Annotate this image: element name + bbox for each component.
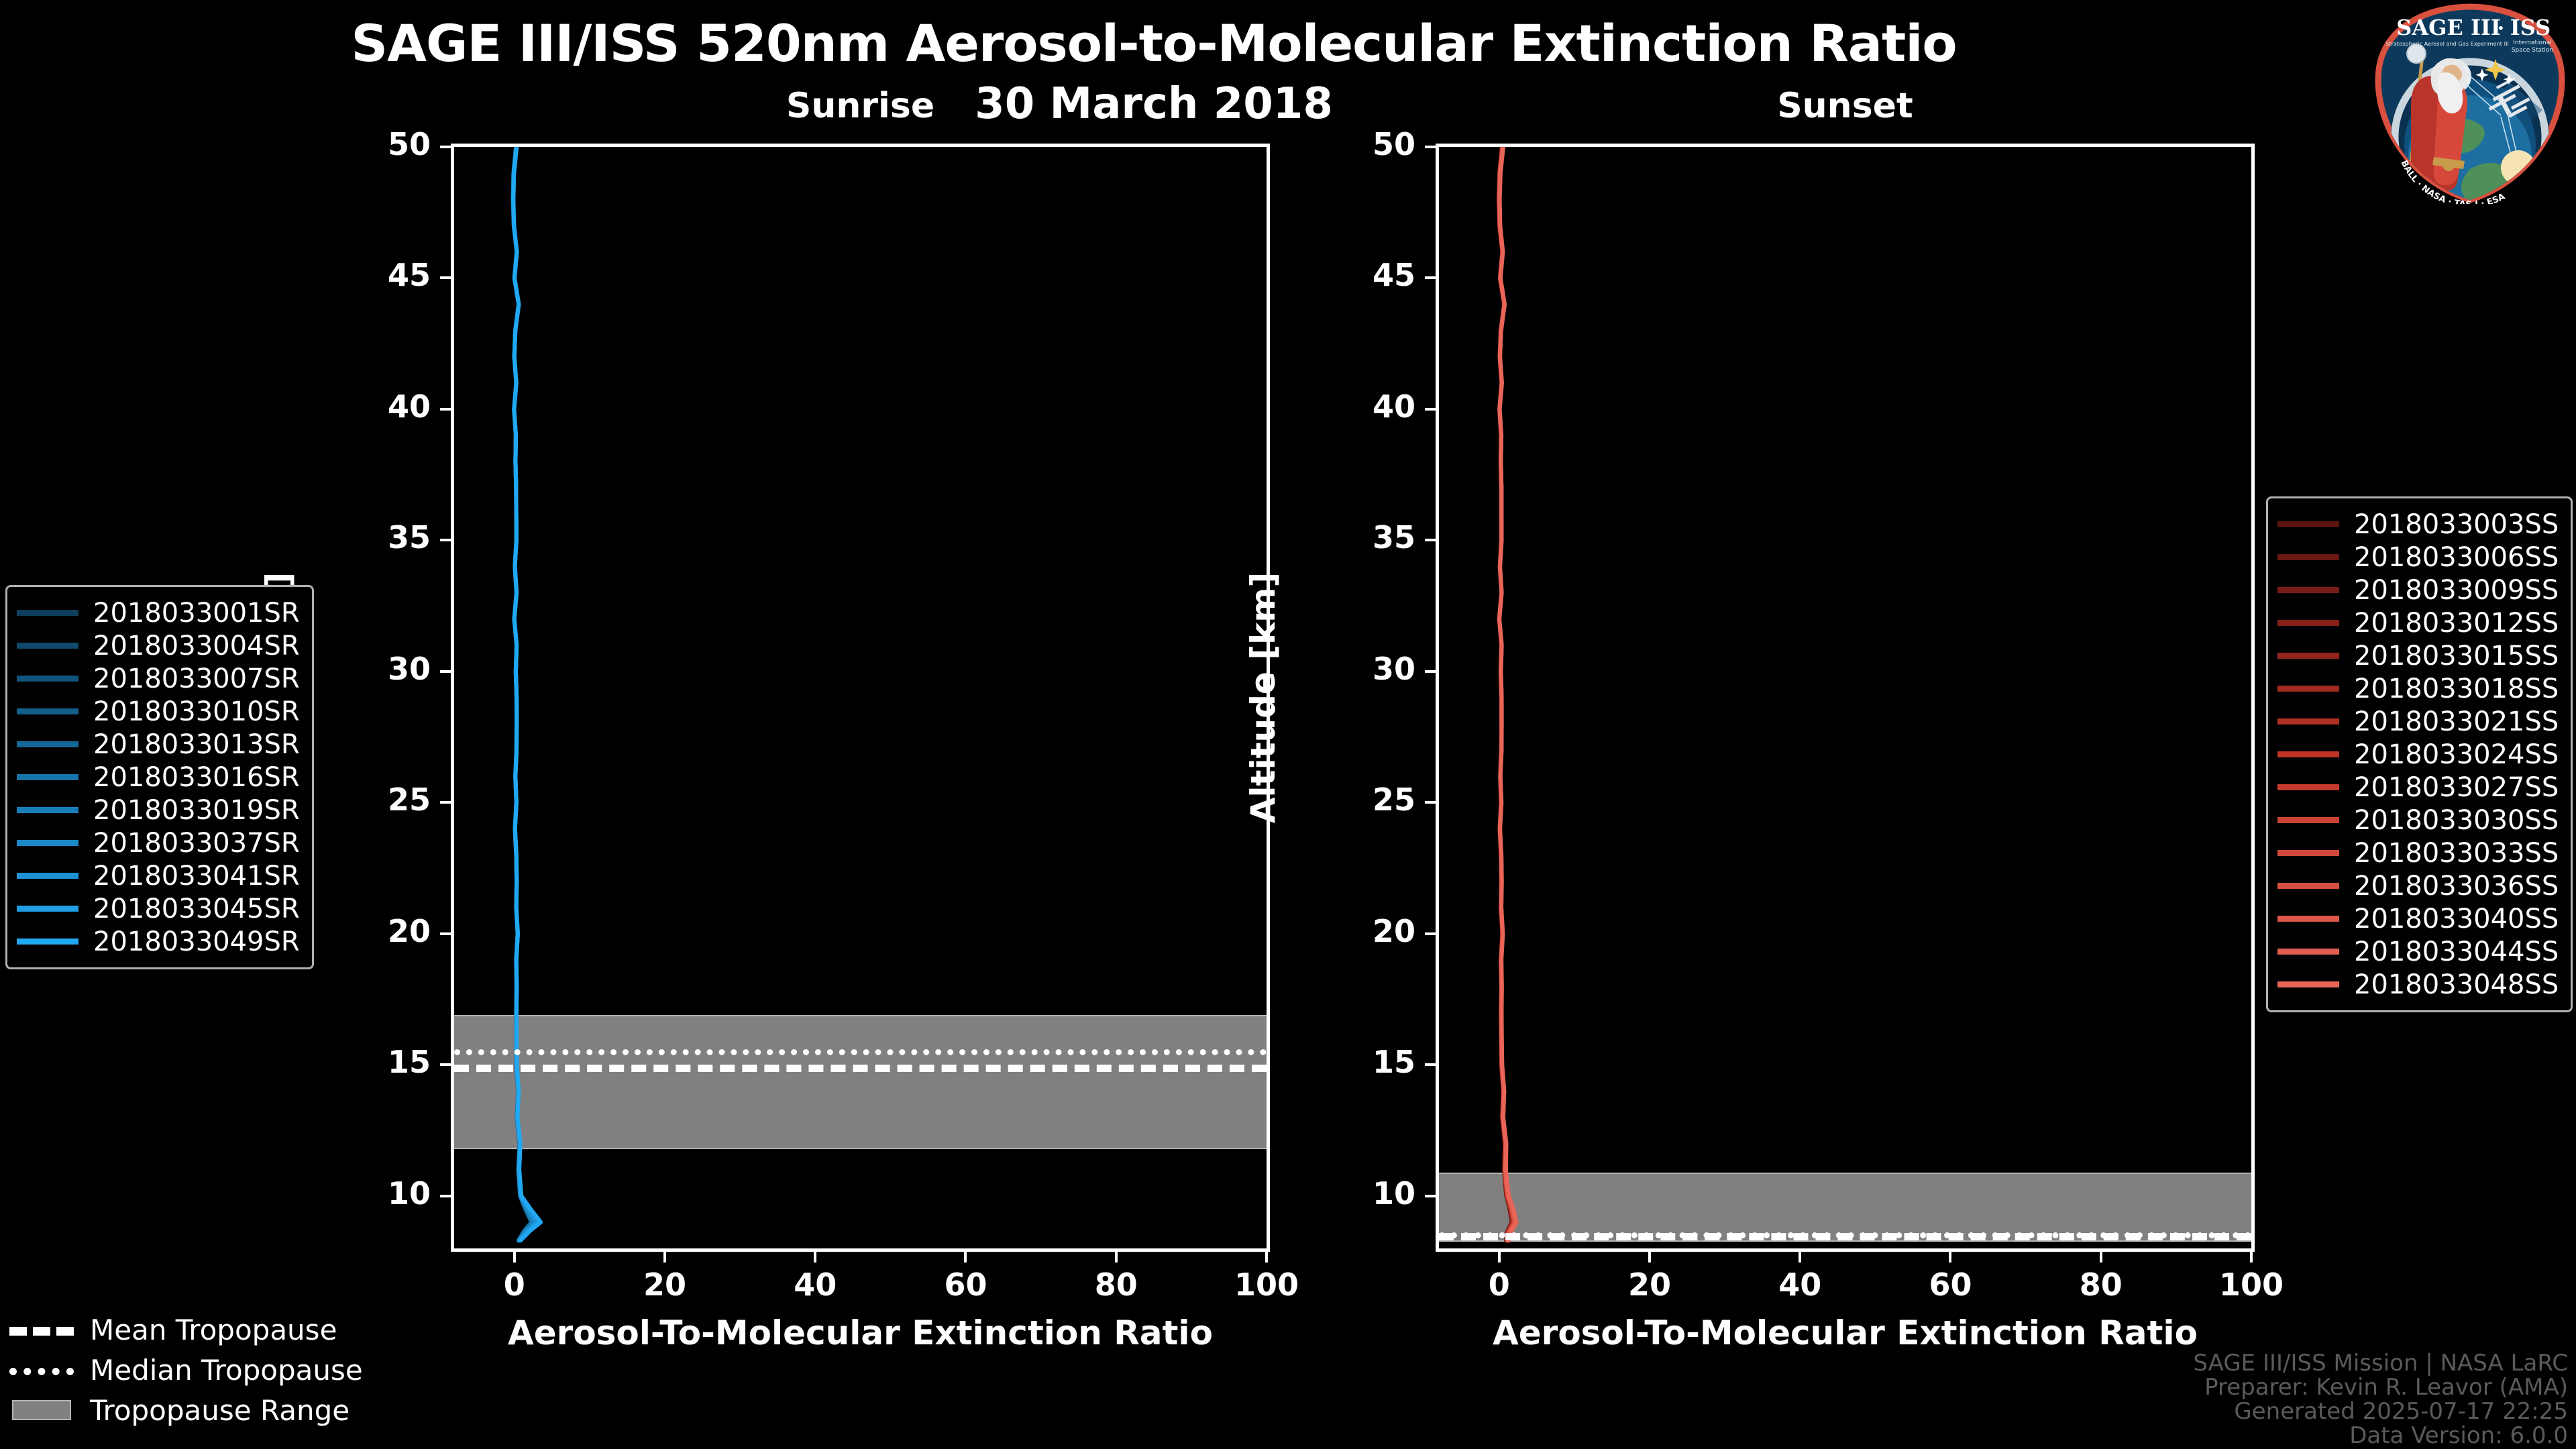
legend-label: 2018033045SR [93, 894, 300, 924]
y-tick-mark [440, 932, 451, 935]
legend-label: 2018033004SR [93, 631, 300, 661]
legend-label: 2018033010SR [93, 696, 300, 727]
legend-color-swatch [2277, 784, 2339, 790]
legend-item-median-tropopause: Median Tropopause [9, 1350, 363, 1390]
legend-color-swatch [2277, 817, 2339, 823]
legend-label: 2018033012SS [2354, 608, 2559, 639]
sunrise-legend[interactable]: 2018033001SR2018033004SR2018033007SR2018… [5, 585, 314, 969]
legend-label: 2018033009SS [2354, 575, 2559, 606]
legend-label: 2018033049SR [93, 926, 300, 957]
x-tick-label: 40 [755, 1267, 875, 1303]
x-tick-mark [513, 1252, 516, 1263]
patch-title-separator: · [2498, 17, 2504, 40]
y-tick-mark [1425, 276, 1436, 279]
y-tick-label: 15 [1301, 1044, 1415, 1080]
x-tick-label: 0 [1439, 1267, 1560, 1303]
legend-color-swatch [2277, 620, 2339, 626]
legend-item-2018033018ss[interactable]: 2018033018SS [2277, 672, 2559, 705]
legend-label: 2018033044SS [2354, 936, 2559, 967]
y-tick-mark [1425, 146, 1436, 148]
y-tick-label: 10 [1301, 1175, 1415, 1212]
legend-label: 2018033040SS [2354, 904, 2559, 934]
legend-label: 2018033003SS [2354, 509, 2559, 540]
legend-color-swatch [2277, 554, 2339, 560]
legend-label: 2018033021SS [2354, 706, 2559, 737]
legend-item-mean-tropopause: Mean Tropopause [9, 1309, 363, 1350]
y-tick-label: 30 [317, 651, 431, 687]
x-tick-mark [1949, 1252, 1951, 1263]
legend-item-2018033006ss[interactable]: 2018033006SS [2277, 541, 2559, 574]
x-tick-label: 100 [1206, 1267, 1327, 1303]
credits-block: SAGE III/ISS Mission | NASA LaRC Prepare… [2193, 1351, 2568, 1448]
legend-color-swatch [2277, 883, 2339, 889]
sunrise-panel-title: Sunrise [451, 86, 1270, 126]
legend-item-2018033041sr[interactable]: 2018033041SR [17, 859, 300, 892]
x-tick-mark [964, 1252, 967, 1263]
legend-color-swatch [17, 741, 78, 747]
legend-item-2018033021ss[interactable]: 2018033021SS [2277, 705, 2559, 738]
y-tick-label: 45 [1301, 257, 1415, 293]
x-tick-label: 20 [1589, 1267, 1710, 1303]
x-tick-label: 60 [905, 1267, 1026, 1303]
x-tick-label: 80 [2041, 1267, 2161, 1303]
y-tick-mark [440, 408, 451, 411]
legend-label: Tropopause Range [90, 1394, 350, 1427]
y-tick-label: 25 [317, 782, 431, 818]
x-tick-mark [1648, 1252, 1651, 1263]
mean-tropopause-line [1439, 1233, 2251, 1240]
x-tick-mark [1799, 1252, 1801, 1263]
legend-color-swatch [17, 938, 78, 945]
legend-label: 2018033007SR [93, 663, 300, 694]
legend-item-2018033048ss[interactable]: 2018033048SS [2277, 968, 2559, 1001]
y-tick-label: 20 [317, 913, 431, 949]
legend-color-swatch [17, 708, 78, 714]
legend-item-2018033024ss[interactable]: 2018033024SS [2277, 738, 2559, 771]
patch-subtitle-left: Stratospheric Aerosol and Gas Experiment… [2385, 40, 2509, 47]
y-tick-mark [440, 146, 451, 148]
page-title: SAGE III/ISS 520nm Aerosol-to-Molecular … [0, 13, 2308, 73]
x-tick-mark [2250, 1252, 2253, 1263]
legend-color-swatch [2277, 686, 2339, 692]
legend-label: 2018033013SR [93, 729, 300, 760]
x-tick-label: 20 [604, 1267, 725, 1303]
y-tick-mark [440, 1195, 451, 1197]
legend-color-swatch [2277, 521, 2339, 527]
y-tick-mark [440, 276, 451, 279]
sunset-profile-curves [1439, 147, 2251, 1248]
legend-color-swatch [17, 873, 78, 879]
x-tick-mark [814, 1252, 816, 1263]
dotted-line-icon [9, 1356, 74, 1384]
legend-label: 2018033024SS [2354, 739, 2559, 770]
legend-color-swatch [17, 610, 78, 616]
legend-label: 2018033048SS [2354, 969, 2559, 1000]
y-tick-label: 25 [1301, 782, 1415, 818]
legend-item-2018033001sr[interactable]: 2018033001SR [17, 596, 300, 629]
legend-label: 2018033041SR [93, 861, 300, 892]
credit-line-generated: Generated 2025-07-17 22:25 [2193, 1399, 2568, 1424]
legend-label: 2018033006SS [2354, 542, 2559, 573]
sunrise-plot-area [451, 144, 1270, 1252]
x-tick-label: 80 [1056, 1267, 1177, 1303]
y-tick-label: 35 [317, 519, 431, 555]
x-axis-title: Aerosol-To-Molecular Extinction Ratio [451, 1313, 1270, 1352]
sunset-legend[interactable]: 2018033003SS2018033006SS2018033009SS2018… [2266, 496, 2573, 1012]
legend-item-2018033036ss[interactable]: 2018033036SS [2277, 869, 2559, 902]
legend-label: 2018033027SS [2354, 772, 2559, 803]
legend-item-2018033010sr[interactable]: 2018033010SR [17, 695, 300, 728]
legend-item-2018033012ss[interactable]: 2018033012SS [2277, 606, 2559, 639]
sunset-plot-area [1436, 144, 2255, 1252]
legend-color-swatch [2277, 653, 2339, 659]
legend-item-2018033009ss[interactable]: 2018033009SS [2277, 574, 2559, 606]
y-tick-label: 50 [1301, 126, 1415, 162]
y-tick-mark [1425, 1195, 1436, 1197]
y-tick-label: 15 [317, 1044, 431, 1080]
legend-item-2018033033ss[interactable]: 2018033033SS [2277, 837, 2559, 869]
x-tick-label: 0 [454, 1267, 575, 1303]
y-tick-label: 40 [317, 388, 431, 425]
legend-item-2018033015ss[interactable]: 2018033015SS [2277, 639, 2559, 672]
tropopause-legend: Mean Tropopause Median Tropopause Tropop… [9, 1309, 363, 1430]
legend-color-swatch [2277, 850, 2339, 856]
y-tick-label: 35 [1301, 519, 1415, 555]
x-tick-mark [663, 1252, 666, 1263]
legend-color-swatch [17, 807, 78, 813]
series-line [513, 147, 541, 1240]
y-tick-mark [440, 801, 451, 804]
y-tick-mark [440, 539, 451, 541]
x-tick-label: 60 [1890, 1267, 2010, 1303]
mean-tropopause-line [454, 1065, 1267, 1072]
legend-color-swatch [2277, 916, 2339, 922]
y-tick-label: 10 [317, 1175, 431, 1212]
y-tick-label: 40 [1301, 388, 1415, 425]
legend-item-2018033030ss[interactable]: 2018033030SS [2277, 804, 2559, 837]
legend-item-2018033004sr[interactable]: 2018033004SR [17, 629, 300, 662]
x-tick-mark [1265, 1252, 1268, 1263]
y-tick-mark [1425, 1063, 1436, 1066]
y-tick-mark [440, 670, 451, 673]
legend-item-2018033003ss[interactable]: 2018033003SS [2277, 508, 2559, 541]
legend-color-swatch [17, 906, 78, 912]
legend-item-2018033045sr[interactable]: 2018033045SR [17, 892, 300, 925]
legend-color-swatch [2277, 949, 2339, 955]
legend-color-swatch [2277, 587, 2339, 593]
x-tick-label: 40 [1739, 1267, 1860, 1303]
sunrise-profile-curves [454, 147, 1267, 1248]
legend-label: 2018033018SS [2354, 674, 2559, 704]
legend-color-swatch [2277, 718, 2339, 724]
y-tick-label: 20 [1301, 913, 1415, 949]
median-tropopause-line [454, 1049, 1267, 1055]
x-tick-label: 100 [2191, 1267, 2312, 1303]
legend-label: 2018033033SS [2354, 838, 2559, 869]
gray-band-icon [9, 1396, 74, 1424]
legend-item-2018033049sr[interactable]: 2018033049SR [17, 925, 300, 958]
legend-item-2018033013sr[interactable]: 2018033013SR [17, 728, 300, 761]
legend-item-2018033044ss[interactable]: 2018033044SS [2277, 935, 2559, 968]
y-tick-label: 30 [1301, 651, 1415, 687]
series-line [1499, 147, 1517, 1240]
y-tick-label: 50 [317, 126, 431, 162]
legend-color-swatch [17, 643, 78, 649]
legend-item-2018033027ss[interactable]: 2018033027SS [2277, 771, 2559, 804]
y-tick-mark [440, 1063, 451, 1066]
y-tick-mark [1425, 801, 1436, 804]
y-tick-mark [1425, 408, 1436, 411]
x-axis-title: Aerosol-To-Molecular Extinction Ratio [1436, 1313, 2255, 1352]
y-tick-mark [1425, 670, 1436, 673]
legend-color-swatch [17, 774, 78, 780]
patch-title-sage3: SAGE III [2396, 15, 2501, 40]
legend-label: Median Tropopause [90, 1354, 363, 1387]
y-tick-label: 45 [317, 257, 431, 293]
x-tick-mark [1115, 1252, 1118, 1263]
patch-title-iss: ISS [2510, 15, 2551, 40]
legend-color-swatch [17, 840, 78, 846]
dashed-line-icon [9, 1316, 74, 1344]
legend-label: 2018033037SR [93, 828, 300, 859]
y-axis-title: Altitude [km] [1244, 572, 1283, 824]
legend-item-2018033040ss[interactable]: 2018033040SS [2277, 902, 2559, 935]
legend-label: 2018033016SR [93, 762, 300, 793]
x-tick-mark [1498, 1252, 1501, 1263]
legend-item-2018033007sr[interactable]: 2018033007SR [17, 662, 300, 695]
credit-line-version: Data Version: 6.0.0 [2193, 1424, 2568, 1448]
legend-color-swatch [2277, 751, 2339, 757]
legend-label: 2018033019SR [93, 795, 300, 826]
legend-label: Mean Tropopause [90, 1313, 337, 1346]
x-tick-mark [2100, 1252, 2102, 1263]
patch-subtitle-right-2: Space Station [2512, 47, 2553, 54]
legend-label: 2018033030SS [2354, 805, 2559, 836]
legend-color-swatch [17, 676, 78, 682]
legend-item-2018033037sr[interactable]: 2018033037SR [17, 826, 300, 859]
legend-label: 2018033036SS [2354, 871, 2559, 902]
legend-item-2018033019sr[interactable]: 2018033019SR [17, 794, 300, 826]
legend-item-tropopause-range: Tropopause Range [9, 1390, 363, 1430]
y-tick-mark [1425, 932, 1436, 935]
credit-line-preparer: Preparer: Kevin R. Leavor (AMA) [2193, 1375, 2568, 1399]
credit-line-mission: SAGE III/ISS Mission | NASA LaRC [2193, 1351, 2568, 1375]
sunset-panel-title: Sunset [1436, 86, 2255, 126]
legend-label: 2018033001SR [93, 598, 300, 629]
y-tick-mark [1425, 539, 1436, 541]
patch-subtitle-right-1: International [2513, 40, 2551, 46]
legend-label: 2018033015SS [2354, 641, 2559, 672]
legend-item-2018033016sr[interactable]: 2018033016SR [17, 761, 300, 794]
sage3-iss-mission-patch-logo: SAGE III · ISS Stratospheric Aerosol and… [2369, 3, 2571, 204]
legend-color-swatch [2277, 981, 2339, 987]
